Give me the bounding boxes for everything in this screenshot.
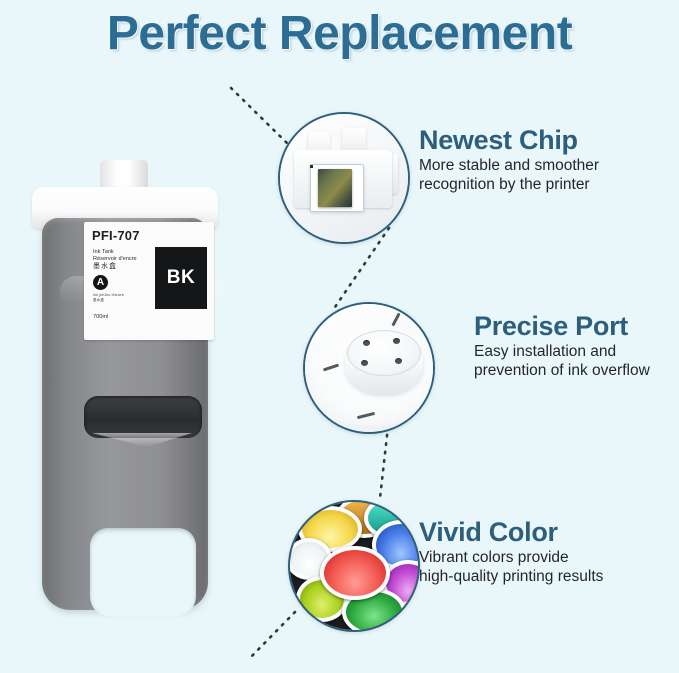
infographic-stage: Perfect Replacement PFI-707 Ink Tank Rés… [0,0,679,673]
label-grade-badge: A [93,275,108,290]
label-line-cjk: 墨水盒 [93,263,137,272]
label-description-lines: Ink Tank Réservoir d'encre 墨水盒 [93,249,137,272]
feature-vivid-color: Vivid Color Vibrant colors provide high-… [419,518,603,587]
feature-color-title: Vivid Color [419,518,603,546]
label-line-en: Ink Tank [93,249,137,256]
port-slot [391,313,400,327]
port-hole [363,340,370,346]
paint-cans-photo [290,502,418,630]
cartridge-label: PFI-707 Ink Tank Réservoir d'encre 墨水盒 A… [84,222,214,340]
feature-port-desc-line2: prevention of ink overflow [474,362,650,381]
paint-cans-icon [288,500,420,632]
feature-chip-desc-line2: recognition by the printer [419,176,599,195]
feature-port-desc-line1: Easy installation and [474,343,650,362]
port-photo [305,304,433,432]
feature-chip-desc-line1: More stable and smoother [419,157,599,176]
feature-chip-desc: More stable and smoother recognition by … [419,157,599,195]
paint-can [320,546,390,600]
label-color-code: BK [155,247,207,309]
connector-bottom [248,612,295,660]
feature-newest-chip: Newest Chip More stable and smoother rec… [419,126,599,195]
chip-alignment-dot [310,165,313,168]
printer-chip-icon [278,112,410,244]
label-model-code: PFI-707 [92,228,140,243]
label-fineprint-cjk: 墨水盒 [93,298,124,303]
feature-color-desc-line2: high-quality printing results [419,568,603,587]
port-hole [395,358,402,364]
ink-port-icon [303,302,435,434]
label-volume: 700ml [93,314,108,320]
page-title: Perfect Replacement [0,6,679,61]
chip-photo [280,114,408,242]
feature-precise-port: Precise Port Easy installation and preve… [474,312,650,381]
cartridge-ink-window [84,396,202,438]
chip-die [318,169,352,207]
label-fineprint-en: Ink jet/Jeu d'encre [93,293,124,298]
port-hole [393,338,400,344]
cartridge-handle-cutout [90,528,196,618]
port-face [347,330,421,376]
feature-chip-title: Newest Chip [419,126,599,154]
feature-color-desc-line1: Vibrant colors provide [419,549,603,568]
feature-color-desc: Vibrant colors provide high-quality prin… [419,549,603,587]
ink-cartridge: PFI-707 Ink Tank Réservoir d'encre 墨水盒 A… [24,160,224,610]
port-hole [361,360,368,366]
feature-port-title: Precise Port [474,312,650,340]
feature-port-desc: Easy installation and prevention of ink … [474,343,650,381]
label-fineprint: Ink jet/Jeu d'encre 墨水盒 [93,293,124,302]
